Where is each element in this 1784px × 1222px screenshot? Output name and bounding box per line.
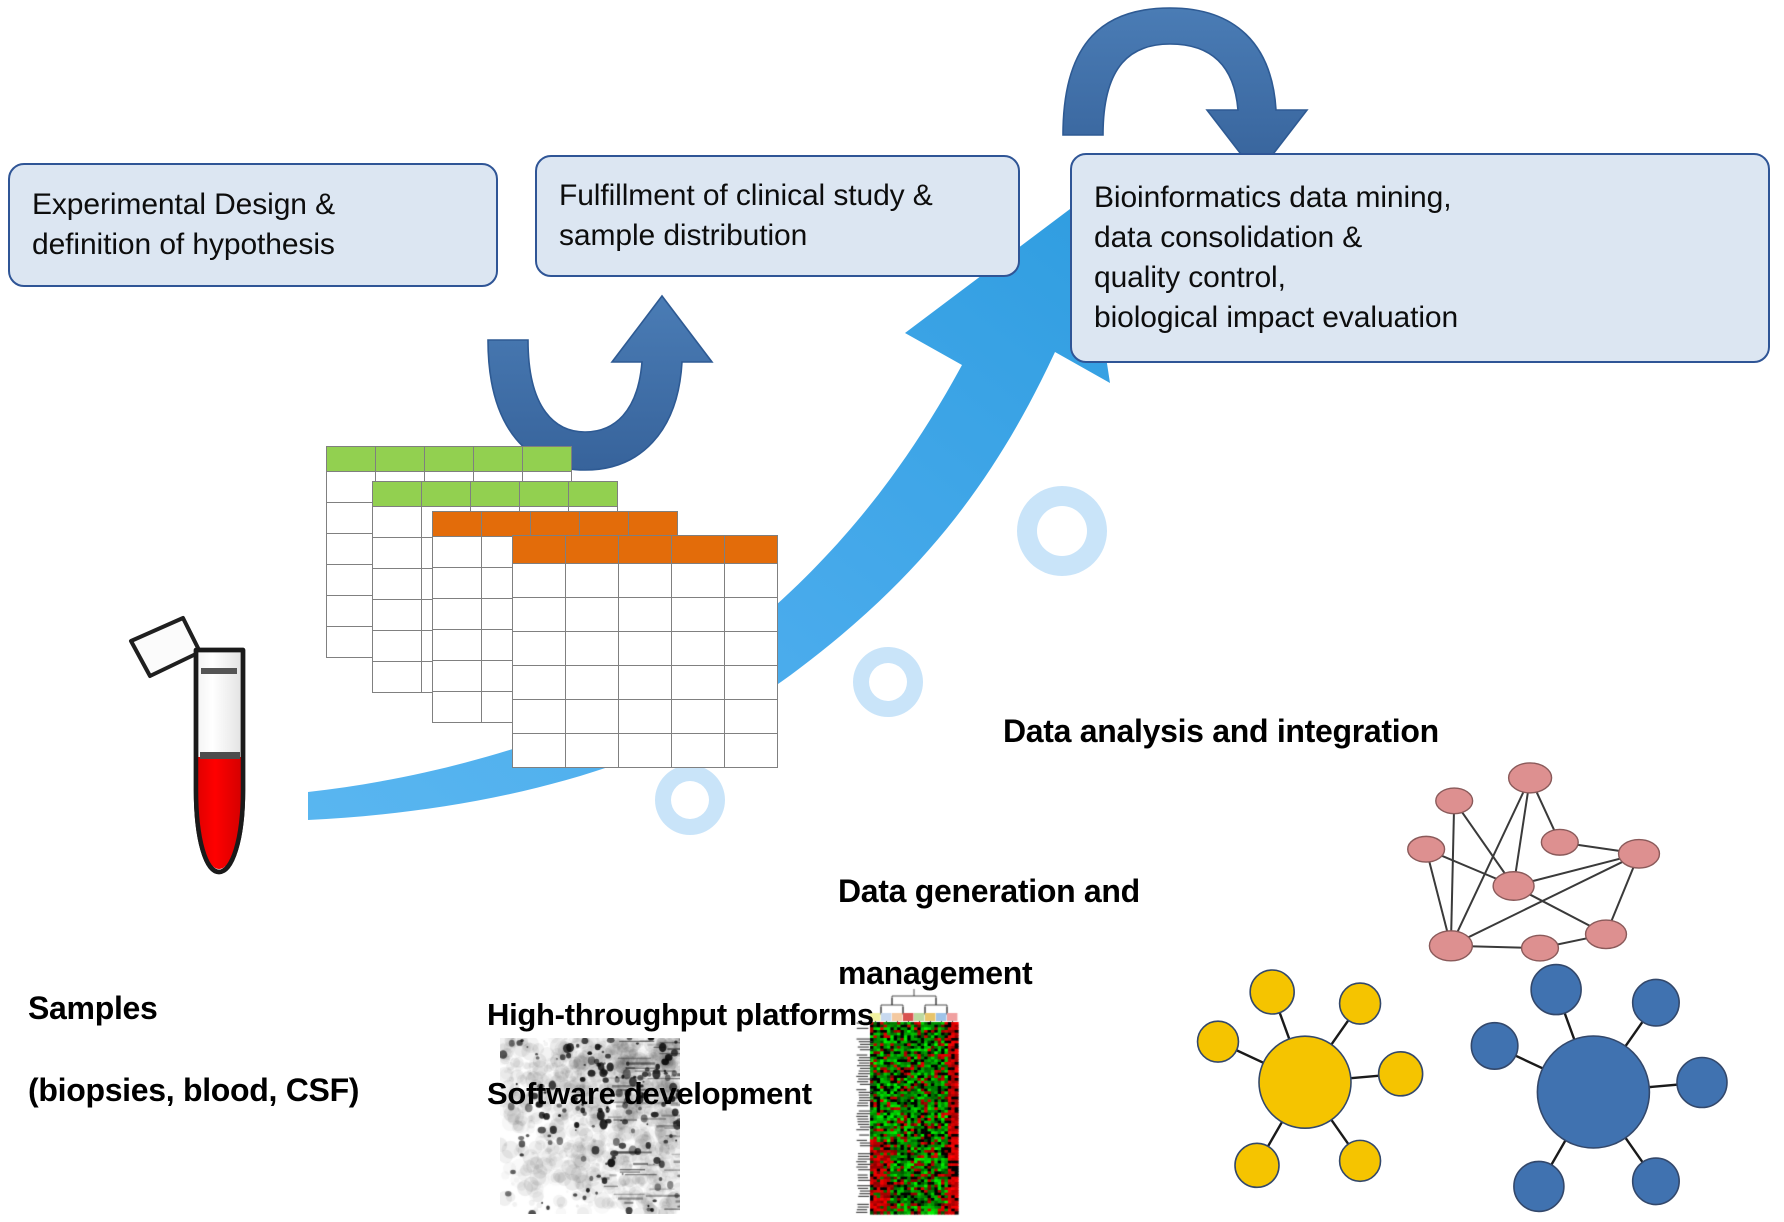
network-node [1541,829,1578,855]
box-line: Experimental Design & [32,185,474,225]
network-node [1531,965,1581,1015]
network-node [1493,872,1534,901]
table-cell [433,537,482,568]
table-cell [433,661,482,692]
network-node [1633,1158,1680,1205]
milestone-dot-2 [853,647,923,717]
table-cell [513,632,566,666]
table-cell [373,507,422,538]
table-cell [566,734,619,768]
table-cell [327,472,376,503]
table-cell [513,666,566,700]
network-node [1429,931,1472,961]
network-node [1436,788,1473,814]
table-header-cell [373,482,422,507]
milestone-dot-3 [1017,486,1107,576]
process-box-bioinformatics[interactable]: Bioinformatics data mining, data consoli… [1070,153,1770,363]
box-line: biological impact evaluation [1094,298,1746,338]
table-cell [373,662,422,693]
network-node [1408,836,1445,862]
table-cell [566,666,619,700]
table-row [513,666,778,700]
table-header-cell [422,482,471,507]
table-cell [373,600,422,631]
table-header-cell [425,447,474,472]
table-header-cell [327,447,376,472]
table-cell [725,666,778,700]
table-cell [373,538,422,569]
box-line: definition of hypothesis [32,225,474,265]
network-node [1340,1140,1381,1181]
table-header-cell [672,536,725,564]
table-header-cell [482,512,531,537]
table-cell [327,534,376,565]
table-row [513,598,778,632]
table-cell [566,632,619,666]
table-header-cell [725,536,778,564]
table-cell [513,700,566,734]
connector-arrow-study-to-bioinformatics [1063,8,1307,175]
yellow-hub-network [1190,960,1440,1195]
box-line: data consolidation & [1094,218,1746,258]
network-edge [1451,801,1454,946]
network-node [1522,935,1559,961]
caption-samples: Samples (biopsies, blood, CSF) [28,947,359,1152]
network-node [1619,840,1660,869]
network-node [1250,970,1294,1014]
network-node [1509,763,1552,793]
table-cell [672,700,725,734]
pink-interaction-network [1408,748,1738,978]
table-cell [619,666,672,700]
table-cell [672,734,725,768]
network-node [1677,1058,1727,1108]
box-line: Fulfillment of clinical study & [559,176,996,216]
process-box-experimental-design[interactable]: Experimental Design & definition of hypo… [8,163,498,287]
process-box-clinical-study[interactable]: Fulfillment of clinical study & sample d… [535,155,1020,277]
table-cell [327,596,376,627]
table-cell [725,632,778,666]
table-cell [672,564,725,598]
table-cell [619,598,672,632]
table-cell [566,564,619,598]
blue-hub-network [1460,962,1750,1212]
network-hub-node [1537,1036,1649,1148]
table-row [513,700,778,734]
box-line: sample distribution [559,216,996,256]
table-cell [433,568,482,599]
figure-canvas: Experimental Design & definition of hypo… [0,0,1784,1222]
table-cell [725,564,778,598]
network-node [1379,1052,1423,1096]
table-cell [433,630,482,661]
network-hub-node [1259,1036,1351,1128]
milestone-dot-1 [655,765,725,835]
table-cell [725,598,778,632]
caption-line: Software development [487,1074,874,1114]
box-line: Bioinformatics data mining, [1094,178,1746,218]
caption-line: (biopsies, blood, CSF) [28,1070,359,1111]
table-cell [672,632,725,666]
caption-data-generation: Data generation and management [838,830,1140,1035]
table-header-cell [513,536,566,564]
table-header-cell [619,536,672,564]
table-header-cell [471,482,520,507]
network-node [1340,983,1381,1024]
table-cell [619,564,672,598]
network-node [1633,979,1680,1026]
table-cell [725,734,778,768]
table-row [513,564,778,598]
caption-high-throughput-platforms: High-throughput platforms Software devel… [487,955,874,1153]
data-table [512,535,778,768]
table-header-cell [629,512,678,537]
table-cell [327,627,376,658]
caption-line: Samples [28,988,359,1029]
table-cell [566,700,619,734]
table-cell [619,734,672,768]
caption-data-analysis: Data analysis and integration [1003,670,1439,793]
table-cell [373,569,422,600]
box-line: quality control, [1094,258,1746,298]
table-cell [566,598,619,632]
table-cell [725,700,778,734]
table-cell [373,631,422,662]
caption-line: High-throughput platforms [487,995,874,1035]
table-cell [672,666,725,700]
network-node [1198,1021,1239,1062]
table-cell [619,700,672,734]
caption-line: management [838,953,1140,994]
caption-line: Data generation and [838,871,1140,912]
caption-line: Data analysis and integration [1003,711,1439,752]
table-cell [513,564,566,598]
table-header-cell [474,447,523,472]
network-node [1235,1143,1279,1187]
table-header-cell [433,512,482,537]
table-cell [327,503,376,534]
table-header-cell [531,512,580,537]
table-cell [513,598,566,632]
network-node [1471,1023,1518,1069]
table-cell [672,598,725,632]
table-header-cell [523,447,572,472]
table-cell [433,692,482,723]
table-header-cell [520,482,569,507]
table-cell [619,632,672,666]
connector-arrow-design-to-study [488,296,712,470]
table-header-cell [580,512,629,537]
table-cell [513,734,566,768]
table-row [513,632,778,666]
table-header-cell [376,447,425,472]
table-cell [327,565,376,596]
data-table-sheet [512,535,778,768]
table-header-cell [569,482,618,507]
table-header-cell [566,536,619,564]
network-node [1586,920,1627,949]
table-row [513,734,778,768]
eppendorf-tube [131,618,243,872]
table-cell [433,599,482,630]
network-node [1514,1161,1564,1211]
